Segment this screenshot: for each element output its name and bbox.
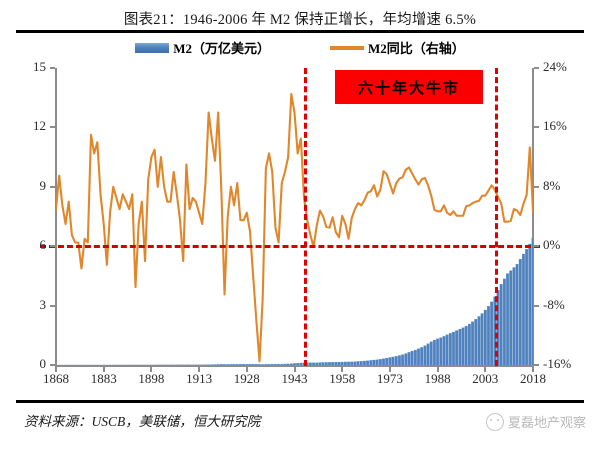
y-axis-left-tick bbox=[50, 305, 55, 307]
y-axis-left-tick bbox=[50, 186, 55, 188]
bar bbox=[322, 362, 325, 365]
bar bbox=[249, 364, 252, 365]
bar bbox=[427, 344, 430, 365]
bar bbox=[481, 313, 484, 365]
bar bbox=[462, 328, 465, 365]
annotation-hline-zero bbox=[40, 245, 540, 248]
bar bbox=[300, 363, 303, 365]
y-axis-right-label: -16% bbox=[543, 356, 571, 372]
y-axis-left-label: 0 bbox=[40, 356, 47, 372]
bar bbox=[354, 362, 357, 365]
bar bbox=[246, 364, 249, 365]
bar bbox=[465, 326, 468, 365]
bar bbox=[239, 364, 242, 365]
bar bbox=[255, 364, 258, 365]
bar bbox=[319, 363, 322, 365]
bar bbox=[398, 355, 401, 365]
chart-title: 图表21：1946-2006 年 M2 保持正增长，年均增速 6.5% bbox=[0, 8, 600, 29]
y-axis-right-tick bbox=[534, 126, 539, 128]
bar bbox=[284, 364, 287, 365]
y-axis-left-label: 6 bbox=[40, 237, 47, 253]
bar bbox=[513, 267, 516, 365]
y-axis-left-tick bbox=[50, 245, 55, 247]
bar bbox=[484, 310, 487, 365]
bar bbox=[350, 362, 353, 365]
bar bbox=[449, 333, 452, 365]
y-axis-right-tick bbox=[534, 364, 539, 366]
bar bbox=[405, 354, 408, 365]
bar bbox=[529, 244, 532, 365]
bar bbox=[309, 363, 312, 365]
chart-legend: M2（万亿美元） M2同比（右轴） bbox=[0, 38, 600, 57]
y-axis-right-tick bbox=[534, 305, 539, 307]
bar bbox=[274, 364, 277, 365]
bar-series-m2 bbox=[56, 238, 533, 365]
bar bbox=[468, 324, 471, 365]
y-axis-left-tick bbox=[50, 67, 55, 69]
bar bbox=[261, 364, 264, 365]
bar bbox=[408, 352, 411, 365]
bar bbox=[258, 364, 261, 365]
bar bbox=[395, 356, 398, 365]
y-axis-right-label: 24% bbox=[543, 59, 567, 75]
bar bbox=[439, 338, 442, 365]
bar bbox=[503, 279, 506, 365]
bar bbox=[341, 362, 344, 365]
bar bbox=[312, 363, 315, 365]
y-axis-left-tick bbox=[50, 126, 55, 128]
chart-page: 图表21：1946-2006 年 M2 保持正增长，年均增速 6.5% M2（万… bbox=[0, 0, 600, 449]
bar bbox=[522, 254, 525, 365]
y-axis-right-label: -8% bbox=[543, 297, 565, 313]
watermark-label: 夏磊地产观察 bbox=[508, 412, 586, 431]
y-axis-right-tick bbox=[534, 245, 539, 247]
bar bbox=[220, 364, 223, 365]
bar bbox=[417, 349, 420, 365]
source-note: 资料来源：USCB，美联储，恒大研究院 bbox=[24, 410, 260, 430]
bar bbox=[268, 364, 271, 365]
bar bbox=[401, 355, 404, 365]
y-axis-right-label: 8% bbox=[543, 178, 560, 194]
y-axis-right-label: 16% bbox=[543, 118, 567, 134]
bar bbox=[474, 319, 477, 365]
bar bbox=[436, 339, 439, 365]
bar bbox=[459, 329, 462, 365]
bar bbox=[487, 306, 490, 365]
bar bbox=[325, 362, 328, 365]
bar bbox=[370, 360, 373, 365]
legend-item-m2-bar: M2（万亿美元） bbox=[135, 38, 270, 57]
bar bbox=[360, 361, 363, 365]
bar bbox=[290, 364, 293, 365]
bar bbox=[296, 363, 299, 365]
annotation-vline-1946 bbox=[304, 68, 307, 366]
title-divider bbox=[16, 30, 584, 33]
y-axis-right-tick bbox=[534, 186, 539, 188]
bar bbox=[490, 302, 493, 365]
bar bbox=[328, 362, 331, 365]
chart-plot-area bbox=[56, 68, 533, 365]
legend-label-m2-yoy: M2同比（右轴） bbox=[368, 38, 465, 57]
bar bbox=[242, 364, 245, 365]
bar bbox=[478, 316, 481, 365]
legend-item-m2-yoy: M2同比（右轴） bbox=[330, 38, 465, 57]
bar bbox=[233, 364, 236, 365]
y-axis-left-label: 3 bbox=[40, 297, 47, 313]
x-axis-label: 2018 bbox=[503, 371, 563, 387]
line-series-m2-yoy bbox=[56, 94, 533, 361]
bar bbox=[344, 362, 347, 365]
bar bbox=[363, 361, 366, 365]
bar bbox=[335, 362, 338, 365]
y-axis-left-label: 12 bbox=[33, 118, 46, 134]
legend-label-m2-bar: M2（万亿美元） bbox=[173, 38, 270, 57]
bar bbox=[420, 347, 423, 365]
bar bbox=[519, 259, 522, 365]
bar bbox=[214, 365, 217, 366]
bar bbox=[455, 331, 458, 366]
bar bbox=[411, 351, 414, 365]
bar bbox=[357, 361, 360, 365]
line-swatch-icon bbox=[330, 46, 364, 50]
bar bbox=[252, 364, 255, 365]
bar bbox=[280, 364, 283, 365]
y-axis-left-label: 9 bbox=[40, 178, 47, 194]
bar bbox=[385, 358, 388, 365]
bar-swatch-icon bbox=[135, 43, 169, 53]
bar bbox=[293, 363, 296, 365]
bar bbox=[443, 336, 446, 365]
bar bbox=[382, 359, 385, 365]
bar bbox=[265, 364, 268, 365]
bar bbox=[532, 238, 533, 365]
footer-divider bbox=[16, 400, 584, 403]
callout-bull-market: 六十年大牛市 bbox=[335, 70, 483, 104]
bar bbox=[331, 362, 334, 365]
bar bbox=[376, 360, 379, 365]
y-axis-left-label: 15 bbox=[33, 59, 46, 75]
watermark: 夏磊地产观察 bbox=[486, 412, 586, 431]
bar bbox=[500, 284, 503, 365]
bar bbox=[223, 364, 226, 365]
bar bbox=[373, 360, 376, 365]
bar bbox=[433, 340, 436, 365]
y-axis-right-tick bbox=[534, 67, 539, 69]
bar bbox=[525, 249, 528, 365]
bar bbox=[389, 357, 392, 365]
bar bbox=[287, 364, 290, 365]
bar bbox=[338, 362, 341, 365]
bar bbox=[277, 364, 280, 365]
bar bbox=[315, 363, 318, 365]
bar bbox=[366, 361, 369, 365]
bar bbox=[430, 342, 433, 365]
circle-face-icon bbox=[486, 413, 504, 431]
bar bbox=[424, 346, 427, 365]
bar bbox=[230, 364, 233, 365]
bar bbox=[446, 335, 449, 365]
bar bbox=[452, 332, 455, 365]
annotation-vline-2006 bbox=[495, 68, 498, 366]
bar bbox=[379, 359, 382, 365]
y-axis-right-label: 0% bbox=[543, 237, 560, 253]
bar bbox=[414, 350, 417, 365]
bar bbox=[271, 364, 274, 365]
bar bbox=[217, 364, 220, 365]
y-axis-left-tick bbox=[50, 364, 55, 366]
bar bbox=[471, 322, 474, 365]
bar bbox=[347, 362, 350, 365]
bar bbox=[516, 264, 519, 365]
bar bbox=[226, 364, 229, 365]
bar bbox=[236, 364, 239, 365]
bar bbox=[509, 271, 512, 365]
bar bbox=[392, 357, 395, 365]
bar bbox=[506, 274, 509, 365]
